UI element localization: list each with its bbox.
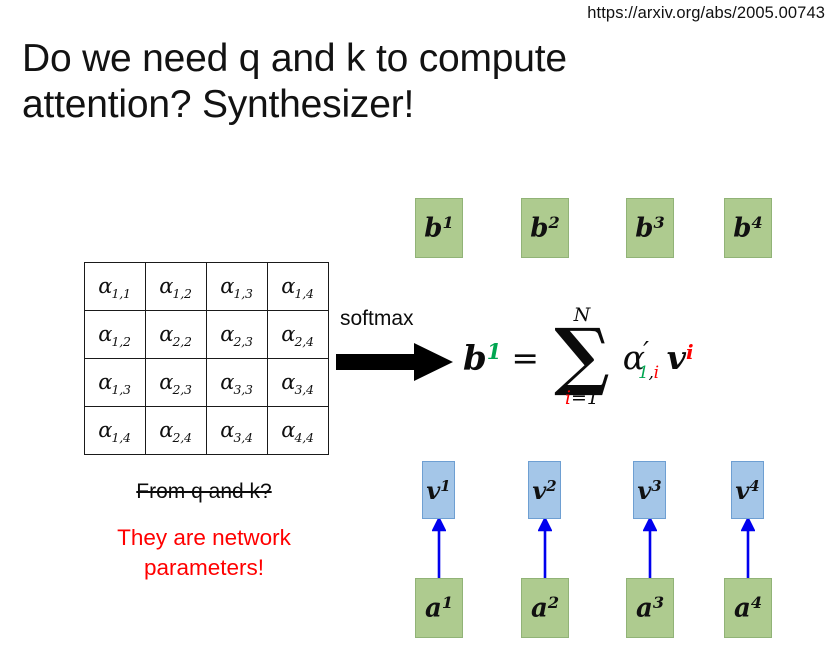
alpha-cell-subscript: 1,2 bbox=[111, 334, 130, 349]
alpha-cell-subscript: 2,4 bbox=[172, 430, 191, 445]
alpha-cell-subscript: 3,4 bbox=[233, 430, 252, 445]
page-title: Do we need q and k to compute attention?… bbox=[22, 36, 682, 128]
softmax-arrow-icon bbox=[336, 342, 454, 382]
formula-lhs: b1 bbox=[463, 339, 501, 375]
alpha-cell-1-1[interactable]: α1,1 bbox=[85, 263, 146, 311]
alpha-cell-4-4[interactable]: α4,4 bbox=[268, 407, 329, 455]
alpha-cell-label: α3,4 bbox=[281, 372, 314, 393]
input-box-a-3[interactable]: a3 bbox=[626, 578, 674, 638]
output-box-b-index: 4 bbox=[751, 213, 762, 232]
value-box-v-2[interactable]: v2 bbox=[528, 461, 561, 519]
alpha-cell-1-4[interactable]: α1,4 bbox=[268, 263, 329, 311]
alpha-cell-subscript: 2,4 bbox=[294, 334, 313, 349]
formula-lhs-symbol: b bbox=[463, 338, 487, 378]
input-box-a-index: 4 bbox=[751, 593, 762, 612]
alpha-cell-subscript: 2,3 bbox=[233, 334, 252, 349]
summation-lower-limit-rest: =1 bbox=[571, 387, 599, 409]
input-box-a-1[interactable]: a1 bbox=[415, 578, 463, 638]
input-box-a-label: a1 bbox=[425, 594, 453, 622]
output-box-b-index: 1 bbox=[442, 213, 453, 232]
summation-lower-limit: i=1 bbox=[565, 389, 599, 408]
formula-lhs-index: 1 bbox=[487, 339, 502, 364]
alpha-cell-subscript: 1,1 bbox=[111, 286, 130, 301]
value-box-v-label: v1 bbox=[426, 478, 450, 503]
output-box-b-label: b2 bbox=[530, 214, 559, 242]
value-box-v-label: v4 bbox=[735, 478, 759, 503]
alpha-cell-label: α4,4 bbox=[281, 420, 314, 441]
alpha-cell-label: α1,1 bbox=[98, 276, 131, 297]
alpha-cell-label: α1,2 bbox=[98, 324, 131, 345]
value-box-v-index: 2 bbox=[546, 477, 556, 495]
input-box-a-2[interactable]: a2 bbox=[521, 578, 569, 638]
alpha-cell-subscript: 3,3 bbox=[233, 382, 252, 397]
alpha-attention-matrix: α1,1α1,2α1,3α1,4α1,2α2,2α2,3α2,4α1,3α2,3… bbox=[84, 262, 329, 455]
connector-arrow-a4-to-v4 bbox=[741, 519, 755, 578]
alpha-cell-subscript: 1,4 bbox=[111, 430, 130, 445]
alpha-cell-label: α2,4 bbox=[281, 324, 314, 345]
alpha-cell-2-4[interactable]: α2,4 bbox=[268, 311, 329, 359]
input-box-a-index: 1 bbox=[442, 593, 453, 612]
network-parameters-note: They are network parameters! bbox=[74, 523, 334, 583]
output-box-b-label: b3 bbox=[635, 214, 664, 242]
alpha-cell-3-4[interactable]: α3,4 bbox=[268, 359, 329, 407]
alpha-cell-subscript: 1,3 bbox=[111, 382, 130, 397]
alpha-cell-3-4[interactable]: α3,4 bbox=[207, 407, 268, 455]
alpha-cell-3-3[interactable]: α3,3 bbox=[207, 359, 268, 407]
formula-alpha-subscript: 1,i bbox=[638, 363, 659, 383]
formula-alpha-sub-row: 1 bbox=[638, 363, 649, 383]
value-box-v-label: v3 bbox=[637, 478, 661, 503]
output-box-b-index: 3 bbox=[653, 213, 664, 232]
alpha-matrix-row: α1,2α2,2α2,3α2,4 bbox=[85, 311, 329, 359]
alpha-cell-subscript: 3,4 bbox=[294, 382, 313, 397]
output-box-b-1[interactable]: b1 bbox=[415, 198, 463, 258]
source-url[interactable]: https://arxiv.org/abs/2005.00743 bbox=[587, 4, 825, 23]
from-q-and-k-note: From q and k? bbox=[84, 480, 324, 504]
value-box-v-index: 3 bbox=[651, 477, 661, 495]
alpha-cell-label: α2,3 bbox=[159, 372, 192, 393]
connector-arrow-a2-to-v2 bbox=[538, 519, 552, 578]
input-box-a-4[interactable]: a4 bbox=[724, 578, 772, 638]
alpha-cell-label: α1,4 bbox=[98, 420, 131, 441]
output-box-b-2[interactable]: b2 bbox=[521, 198, 569, 258]
alpha-cell-label: α1,2 bbox=[159, 276, 192, 297]
alpha-cell-1-4[interactable]: α1,4 bbox=[85, 407, 146, 455]
input-box-a-label: a2 bbox=[531, 594, 559, 622]
alpha-cell-subscript: 2,2 bbox=[172, 334, 191, 349]
alpha-cell-subscript: 1,3 bbox=[233, 286, 252, 301]
alpha-cell-2-3[interactable]: α2,3 bbox=[146, 359, 207, 407]
output-box-b-3[interactable]: b3 bbox=[626, 198, 674, 258]
alpha-cell-label: α2,2 bbox=[159, 324, 192, 345]
alpha-cell-label: α3,4 bbox=[220, 420, 253, 441]
input-box-a-index: 3 bbox=[653, 593, 664, 612]
alpha-cell-subscript: 4,4 bbox=[294, 430, 313, 445]
alpha-cell-label: α2,4 bbox=[159, 420, 192, 441]
alpha-matrix-row: α1,1α1,2α1,3α1,4 bbox=[85, 263, 329, 311]
value-box-v-4[interactable]: v4 bbox=[731, 461, 764, 519]
formula-alpha-sub-col: i bbox=[654, 363, 659, 383]
input-box-a-label: a4 bbox=[734, 594, 762, 622]
alpha-cell-label: α3,3 bbox=[220, 372, 253, 393]
value-box-v-3[interactable]: v3 bbox=[633, 461, 666, 519]
connector-arrow-a3-to-v3 bbox=[643, 519, 657, 578]
formula-summation: N ∑ i=1 bbox=[554, 306, 610, 408]
formula-alpha-term: α′1,i bbox=[623, 341, 672, 374]
softmax-label: softmax bbox=[340, 307, 414, 331]
alpha-cell-label: α1,4 bbox=[281, 276, 314, 297]
attention-output-formula: b1 = N ∑ i=1 α′1,i vi bbox=[463, 292, 694, 422]
sigma-icon: ∑ bbox=[554, 328, 610, 386]
alpha-cell-subscript: 1,2 bbox=[172, 286, 191, 301]
connector-arrow-a1-to-v1 bbox=[432, 519, 446, 578]
alpha-cell-label: α1,3 bbox=[98, 372, 131, 393]
value-box-v-index: 1 bbox=[440, 477, 450, 495]
alpha-cell-2-4[interactable]: α2,4 bbox=[146, 407, 207, 455]
input-box-a-index: 2 bbox=[548, 593, 559, 612]
output-box-b-label: b4 bbox=[733, 214, 762, 242]
value-box-v-1[interactable]: v1 bbox=[422, 461, 455, 519]
alpha-matrix-body: α1,1α1,2α1,3α1,4α1,2α2,2α2,3α2,4α1,3α2,3… bbox=[85, 263, 329, 455]
input-box-a-label: a3 bbox=[636, 594, 664, 622]
output-box-b-4[interactable]: b4 bbox=[724, 198, 772, 258]
alpha-cell-1-3[interactable]: α1,3 bbox=[85, 359, 146, 407]
alpha-cell-label: α2,3 bbox=[220, 324, 253, 345]
formula-equals: = bbox=[511, 341, 539, 374]
alpha-cell-subscript: 2,3 bbox=[172, 382, 191, 397]
alpha-cell-2-3[interactable]: α2,3 bbox=[207, 311, 268, 359]
alpha-cell-1-2[interactable]: α1,2 bbox=[85, 311, 146, 359]
alpha-cell-2-2[interactable]: α2,2 bbox=[146, 311, 207, 359]
alpha-cell-1-3[interactable]: α1,3 bbox=[207, 263, 268, 311]
alpha-cell-subscript: 1,4 bbox=[294, 286, 313, 301]
formula-v-index: i bbox=[686, 340, 694, 364]
alpha-matrix-row: α1,3α2,3α3,3α3,4 bbox=[85, 359, 329, 407]
alpha-cell-label: α1,3 bbox=[220, 276, 253, 297]
output-box-b-index: 2 bbox=[548, 213, 559, 232]
value-box-v-label: v2 bbox=[532, 478, 556, 503]
value-box-v-index: 4 bbox=[749, 477, 759, 495]
alpha-cell-1-2[interactable]: α1,2 bbox=[146, 263, 207, 311]
alpha-matrix-row: α1,4α2,4α3,4α4,4 bbox=[85, 407, 329, 455]
output-box-b-label: b1 bbox=[424, 214, 453, 242]
